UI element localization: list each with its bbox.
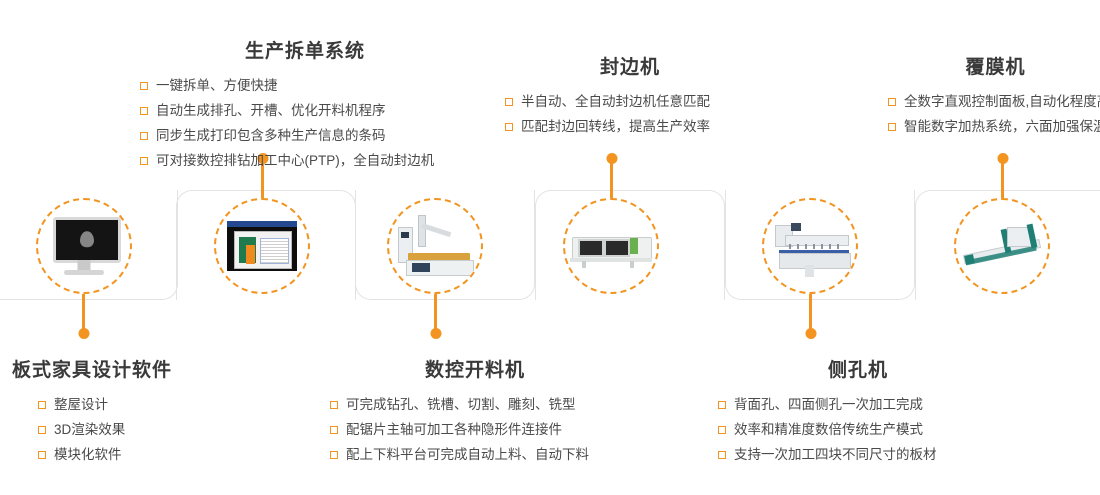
block-title: 板式家具设计软件	[12, 355, 272, 382]
block-design-software: 板式家具设计软件 整屋设计 3D渲染效果 模块化软件	[12, 355, 272, 467]
list-item-label: 可对接数控排钻加工中心(PTP)，全自动封边机	[156, 148, 434, 173]
list-item-label: 效率和精准度数倍传统生产模式	[734, 417, 923, 442]
connector-node-3	[434, 292, 437, 334]
list-item: 模块化软件	[38, 442, 272, 467]
feature-list: 可完成钻孔、铣槽、切割、雕刻、铣型 配锯片主轴可加工各种隐形件连接件 配上下料平…	[330, 392, 620, 467]
list-item: 一键拆单、方便快捷	[140, 73, 470, 98]
list-item: 可对接数控排钻加工中心(PTP)，全自动封边机	[140, 148, 470, 173]
list-item-label: 背面孔、四面侧孔一次加工完成	[734, 392, 923, 417]
list-item-label: 匹配封边回转线，提高生产效率	[521, 114, 710, 139]
feature-list: 半自动、全自动封边机任意匹配 匹配封边回转线，提高生产效率	[505, 89, 755, 139]
list-item: 智能数字加热系统，六面加强保温	[888, 114, 1100, 139]
list-item: 匹配封边回转线，提高生产效率	[505, 114, 755, 139]
block-laminating-machine: 覆膜机 全数字直观控制面板,自动化程度高 智能数字加热系统，六面加强保温	[888, 52, 1100, 139]
laminator-icon	[959, 203, 1045, 289]
bullet-square-icon	[38, 451, 46, 459]
list-item-label: 一键拆单、方便快捷	[156, 73, 278, 98]
block-edge-banding-machine: 封边机 半自动、全自动封边机任意匹配 匹配封边回转线，提高生产效率	[505, 52, 755, 139]
block-title: 覆膜机	[888, 52, 1100, 79]
bullet-square-icon	[38, 401, 46, 409]
block-title: 封边机	[505, 52, 755, 79]
connector-node-4	[610, 158, 613, 200]
bullet-square-icon	[140, 82, 148, 90]
cnc-router-icon	[392, 203, 478, 289]
node-edge-banding[interactable]	[563, 198, 659, 294]
node-design-software[interactable]	[36, 198, 132, 294]
list-item-label: 全数字直观控制面板,自动化程度高	[904, 89, 1100, 114]
list-item-label: 配锯片主轴可加工各种隐形件连接件	[346, 417, 562, 442]
node-cnc-cutting[interactable]	[387, 198, 483, 294]
list-item-label: 同步生成打印包含多种生产信息的条码	[156, 123, 386, 148]
list-item: 3D渲染效果	[38, 417, 272, 442]
list-item-label: 整屋设计	[54, 392, 108, 417]
list-item: 可完成钻孔、铣槽、切割、雕刻、铣型	[330, 392, 620, 417]
list-item: 配锯片主轴可加工各种隐形件连接件	[330, 417, 620, 442]
bullet-square-icon	[38, 426, 46, 434]
feature-list: 背面孔、四面侧孔一次加工完成 效率和精准度数倍传统生产模式 支持一次加工四块不同…	[718, 392, 998, 467]
edge-bander-icon	[568, 203, 654, 289]
list-item: 配上下料平台可完成自动上料、自动下料	[330, 442, 620, 467]
connector-node-1	[82, 292, 85, 334]
bullet-square-icon	[718, 426, 726, 434]
bullet-square-icon	[505, 123, 513, 131]
bullet-square-icon	[330, 426, 338, 434]
list-item: 整屋设计	[38, 392, 272, 417]
feature-list: 全数字直观控制面板,自动化程度高 智能数字加热系统，六面加强保温	[888, 89, 1100, 139]
block-title: 生产拆单系统	[140, 36, 470, 63]
list-item: 支持一次加工四块不同尺寸的板材	[718, 442, 998, 467]
bullet-square-icon	[140, 132, 148, 140]
list-item: 效率和精准度数倍传统生产模式	[718, 417, 998, 442]
feature-list: 整屋设计 3D渲染效果 模块化软件	[12, 392, 272, 467]
block-title: 侧孔机	[718, 355, 998, 382]
list-item-label: 配上下料平台可完成自动上料、自动下料	[346, 442, 589, 467]
node-laminating[interactable]	[954, 198, 1050, 294]
connector-node-6	[1001, 158, 1004, 200]
feature-list: 一键拆单、方便快捷 自动生成排孔、开槽、优化开料机程序 同步生成打印包含多种生产…	[140, 73, 470, 173]
list-item-label: 3D渲染效果	[54, 417, 125, 442]
block-title: 数控开料机	[330, 355, 620, 382]
list-item: 半自动、全自动封边机任意匹配	[505, 89, 755, 114]
block-order-splitting-system: 生产拆单系统 一键拆单、方便快捷 自动生成排孔、开槽、优化开料机程序 同步生成打…	[140, 36, 470, 173]
list-item-label: 模块化软件	[54, 442, 122, 467]
imac-monitor-icon	[41, 203, 127, 289]
bullet-square-icon	[140, 157, 148, 165]
list-item: 背面孔、四面侧孔一次加工完成	[718, 392, 998, 417]
process-flow-diagram: 生产拆单系统 一键拆单、方便快捷 自动生成排孔、开槽、优化开料机程序 同步生成打…	[0, 0, 1100, 495]
list-item-label: 半自动、全自动封边机任意匹配	[521, 89, 710, 114]
block-cnc-cutting-machine: 数控开料机 可完成钻孔、铣槽、切割、雕刻、铣型 配锯片主轴可加工各种隐形件连接件…	[330, 355, 620, 467]
node-order-system[interactable]	[214, 198, 310, 294]
list-item-label: 支持一次加工四块不同尺寸的板材	[734, 442, 937, 467]
bullet-square-icon	[140, 107, 148, 115]
block-side-hole-machine: 侧孔机 背面孔、四面侧孔一次加工完成 效率和精准度数倍传统生产模式 支持一次加工…	[718, 355, 998, 467]
node-side-hole[interactable]	[762, 198, 858, 294]
list-item-label: 智能数字加热系统，六面加强保温	[904, 114, 1100, 139]
bullet-square-icon	[330, 401, 338, 409]
side-driller-icon	[767, 203, 853, 289]
list-item: 全数字直观控制面板,自动化程度高	[888, 89, 1100, 114]
list-item-label: 自动生成排孔、开槽、优化开料机程序	[156, 98, 386, 123]
list-item: 自动生成排孔、开槽、优化开料机程序	[140, 98, 470, 123]
list-item: 同步生成打印包含多种生产信息的条码	[140, 123, 470, 148]
bullet-square-icon	[330, 451, 338, 459]
connector-node-5	[809, 292, 812, 334]
list-item-label: 可完成钻孔、铣槽、切割、雕刻、铣型	[346, 392, 576, 417]
software-window-icon	[219, 203, 305, 289]
bullet-square-icon	[718, 451, 726, 459]
bullet-square-icon	[888, 98, 896, 106]
bullet-square-icon	[505, 98, 513, 106]
bullet-square-icon	[888, 123, 896, 131]
bullet-square-icon	[718, 401, 726, 409]
